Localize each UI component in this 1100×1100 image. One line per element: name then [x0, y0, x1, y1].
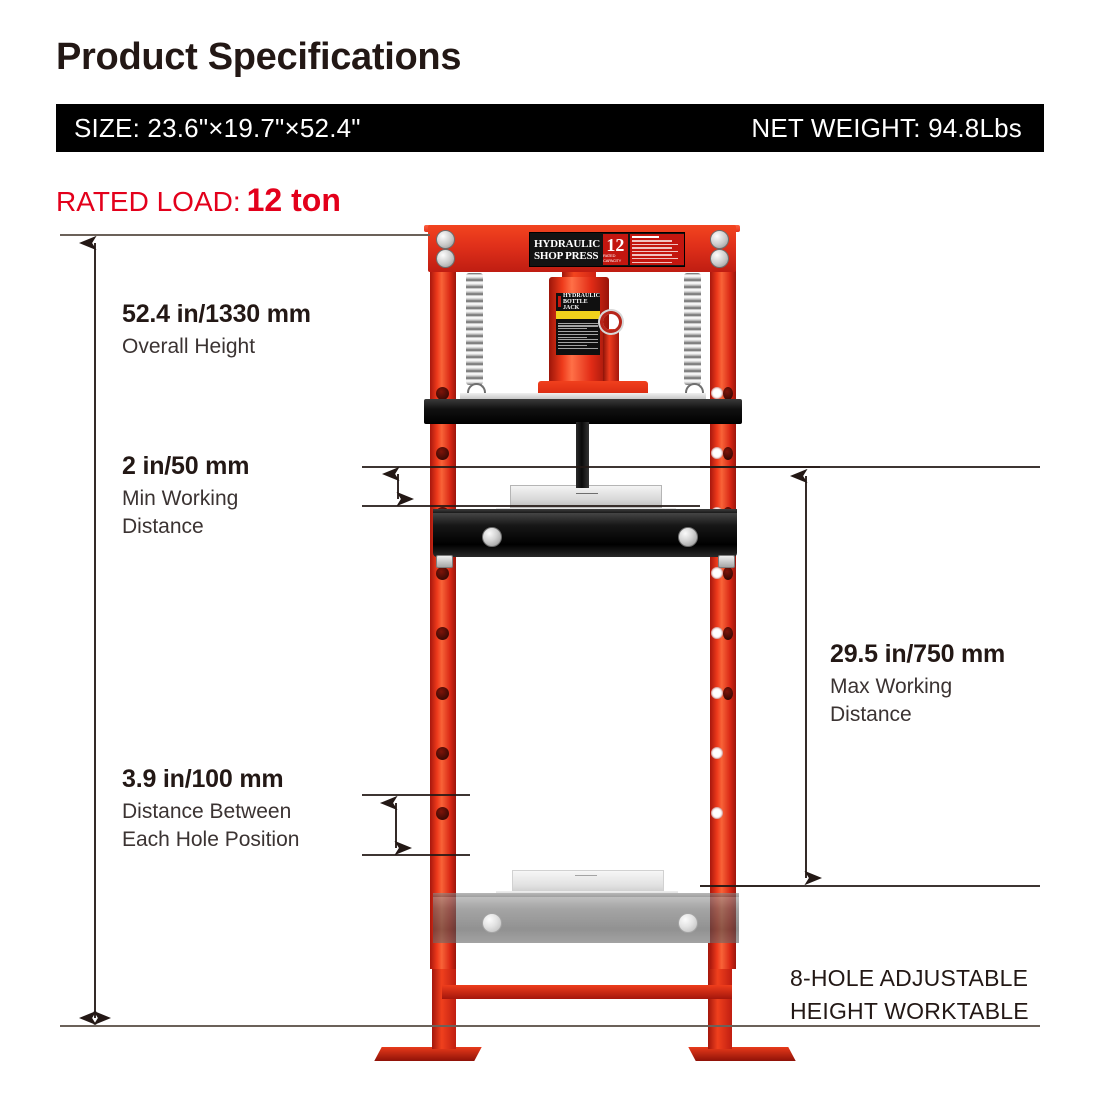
warning-text-block: [630, 234, 684, 265]
callout-min-working-distance: 2 in/50 mm Min Working Distance: [122, 452, 249, 541]
callout-overall-height: 52.4 in/1330 mm Overall Height: [122, 300, 311, 361]
ram-piston-rod: [576, 422, 589, 488]
shop-press-nameplate: HYDRAULIC SHOP PRESS 12 RATED CAPACITY: [529, 232, 685, 267]
spec-bar: SIZE: 23.6"×19.7"×52.4" NET WEIGHT: 94.8…: [56, 104, 1044, 152]
adjust-hole-back: [723, 447, 733, 460]
jack-pump-cylinder: [603, 329, 619, 385]
capacity-badge: 12 RATED CAPACITY: [603, 234, 628, 265]
frame-bolt: [436, 249, 455, 268]
adjust-hole: [436, 447, 449, 460]
page-title: Product Specifications: [56, 36, 461, 79]
hydraulic-shop-press-illustration: HYDRAULIC BOTTLE JACK: [400, 225, 780, 1055]
adjust-hole-back: [723, 567, 733, 580]
adjust-hole: [711, 387, 723, 399]
adjust-hole: [436, 567, 449, 580]
brand-logo-icon: [558, 296, 561, 307]
frame-bolt: [436, 230, 455, 249]
hole-spacing-caption-1: Distance Between: [122, 798, 299, 826]
plate-seam: [576, 493, 598, 494]
worktable-caption-1: 8-HOLE ADJUSTABLE: [790, 962, 1029, 995]
bottle-jack-label: HYDRAULIC BOTTLE JACK: [556, 293, 600, 355]
adjust-hole-back: [723, 627, 733, 640]
worktable-bolt: [678, 527, 698, 547]
adjust-hole: [711, 807, 723, 819]
overall-height-caption: Overall Height: [122, 333, 311, 361]
adjust-hole: [436, 627, 449, 640]
worktable-caption-2: HEIGHT WORKTABLE: [790, 995, 1029, 1028]
ram-carrier-beam: [424, 399, 742, 424]
worktable-bolt: [678, 913, 698, 933]
frame-upright-right: [710, 269, 736, 969]
frame-bolt: [710, 230, 729, 249]
worktable-support-foot: [718, 555, 735, 568]
frame-bolt: [710, 249, 729, 268]
adjust-hole: [711, 627, 723, 639]
adjust-hole: [711, 687, 723, 699]
base-cross-member: [442, 985, 732, 999]
callout-hole-spacing: 3.9 in/100 mm Distance Between Each Hole…: [122, 765, 299, 854]
return-spring-right: [684, 273, 701, 385]
return-spring-left: [466, 273, 483, 385]
max-working-caption-1: Max Working: [830, 673, 1005, 701]
rated-load-value: 12 ton: [247, 182, 341, 218]
warning-strip: [556, 311, 600, 319]
adjust-hole: [436, 747, 449, 760]
adjust-hole: [436, 687, 449, 700]
rated-load: RATED LOAD:12 ton: [56, 182, 341, 219]
rated-load-label: RATED LOAD:: [56, 186, 241, 217]
min-working-caption-2: Distance: [122, 513, 249, 541]
adjust-hole: [711, 747, 723, 759]
hole-spacing-value: 3.9 in/100 mm: [122, 765, 299, 794]
size-value: SIZE: 23.6"×19.7"×52.4": [74, 113, 361, 144]
base-foot-pad-left: [374, 1047, 481, 1061]
min-working-caption-1: Min Working: [122, 485, 249, 513]
adjust-hole-back: [723, 687, 733, 700]
min-working-value: 2 in/50 mm: [122, 452, 249, 481]
plate-seam: [575, 875, 597, 876]
net-weight-value: NET WEIGHT: 94.8Lbs: [751, 113, 1022, 144]
overall-height-value: 52.4 in/1330 mm: [122, 300, 311, 329]
base-foot-pad-right: [688, 1047, 795, 1061]
frame-upright-left: [430, 269, 456, 969]
worktable-bolt: [482, 913, 502, 933]
adjust-hole: [711, 567, 723, 579]
worktable-support-foot: [436, 555, 453, 568]
bottle-jack-label-header: HYDRAULIC BOTTLE JACK: [556, 293, 600, 310]
worktable-bolt: [482, 527, 502, 547]
top-header-beam: HYDRAULIC SHOP PRESS 12 RATED CAPACITY: [428, 225, 736, 272]
max-working-value: 29.5 in/750 mm: [830, 640, 1005, 669]
adjust-hole: [711, 447, 723, 459]
spec-sheet-page: Product Specifications SIZE: 23.6"×19.7"…: [0, 0, 1100, 1100]
nameplate-title: HYDRAULIC SHOP PRESS: [530, 238, 600, 262]
callout-worktable: 8-HOLE ADJUSTABLE HEIGHT WORKTABLE: [790, 962, 1029, 1029]
base-foot-left: [355, 225, 424, 337]
callout-max-working-distance: 29.5 in/750 mm Max Working Distance: [830, 640, 1005, 729]
label-fineprint: [556, 320, 600, 351]
hole-spacing-caption-2: Each Hole Position: [122, 826, 299, 854]
bottle-jack-label-title: HYDRAULIC BOTTLE JACK: [563, 293, 600, 311]
max-working-caption-2: Distance: [830, 701, 1005, 729]
adjust-hole: [436, 807, 449, 820]
